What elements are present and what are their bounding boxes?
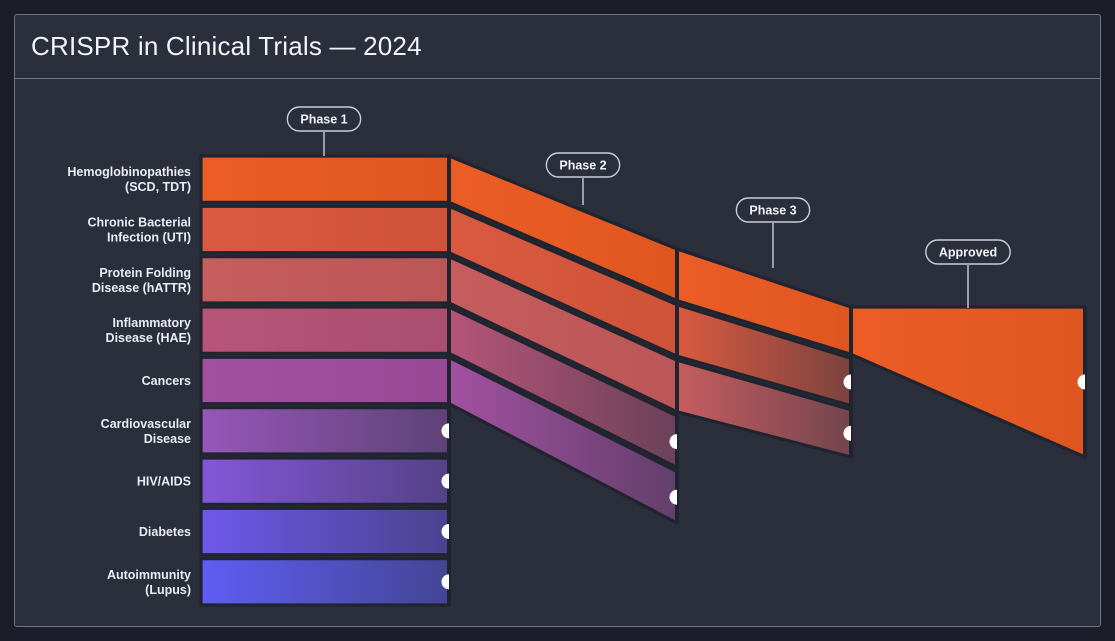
category-label: Chronic BacterialInfection (UTI)	[87, 216, 191, 245]
flow-link[interactable]	[201, 206, 449, 252]
category-label: InflammatoryDisease (HAE)	[106, 316, 191, 345]
stage-annotation[interactable]: Phase 1	[287, 107, 360, 131]
title-bar: CRISPR in Clinical Trials — 2024	[15, 15, 1100, 79]
chart-panel: CRISPR in Clinical Trials — 2024 Hemoglo…	[14, 14, 1101, 627]
category-label: Autoimmunity(Lupus)	[107, 568, 191, 597]
sankey-svg: Hemoglobinopathies(SCD, TDT)Chronic Bact…	[15, 79, 1101, 627]
category-labels-group: Hemoglobinopathies(SCD, TDT)Chronic Bact…	[67, 165, 191, 597]
stage-annotation[interactable]: Phase 3	[736, 198, 809, 222]
flow-link[interactable]	[201, 156, 449, 202]
category-label: HIV/AIDS	[137, 475, 191, 489]
annotation-pill-label: Phase 2	[559, 159, 606, 173]
page-title: CRISPR in Clinical Trials — 2024	[31, 31, 422, 62]
category-label: CardiovascularDisease	[101, 417, 191, 446]
flow-link[interactable]	[201, 559, 449, 605]
flow-link[interactable]	[201, 357, 449, 403]
flow-link[interactable]	[201, 307, 449, 353]
flow-links-group	[201, 156, 1085, 605]
sankey-chart: Hemoglobinopathies(SCD, TDT)Chronic Bact…	[15, 79, 1101, 627]
annotation-pill-label: Phase 1	[300, 113, 347, 127]
annotation-pill-label: Approved	[939, 246, 997, 260]
annotation-pill-label: Phase 3	[749, 204, 796, 218]
flow-link[interactable]	[201, 508, 449, 554]
category-label: Cancers	[142, 374, 191, 388]
stage-annotation[interactable]: Approved	[926, 240, 1010, 264]
flow-link[interactable]	[851, 307, 1085, 457]
category-label: Protein FoldingDisease (hATTR)	[92, 266, 191, 295]
category-label: Diabetes	[139, 525, 191, 539]
stage-annotation[interactable]: Phase 2	[546, 153, 619, 177]
flow-link[interactable]	[201, 408, 449, 454]
flow-link[interactable]	[201, 458, 449, 504]
flow-link[interactable]	[201, 257, 449, 303]
category-label: Hemoglobinopathies(SCD, TDT)	[67, 165, 191, 194]
